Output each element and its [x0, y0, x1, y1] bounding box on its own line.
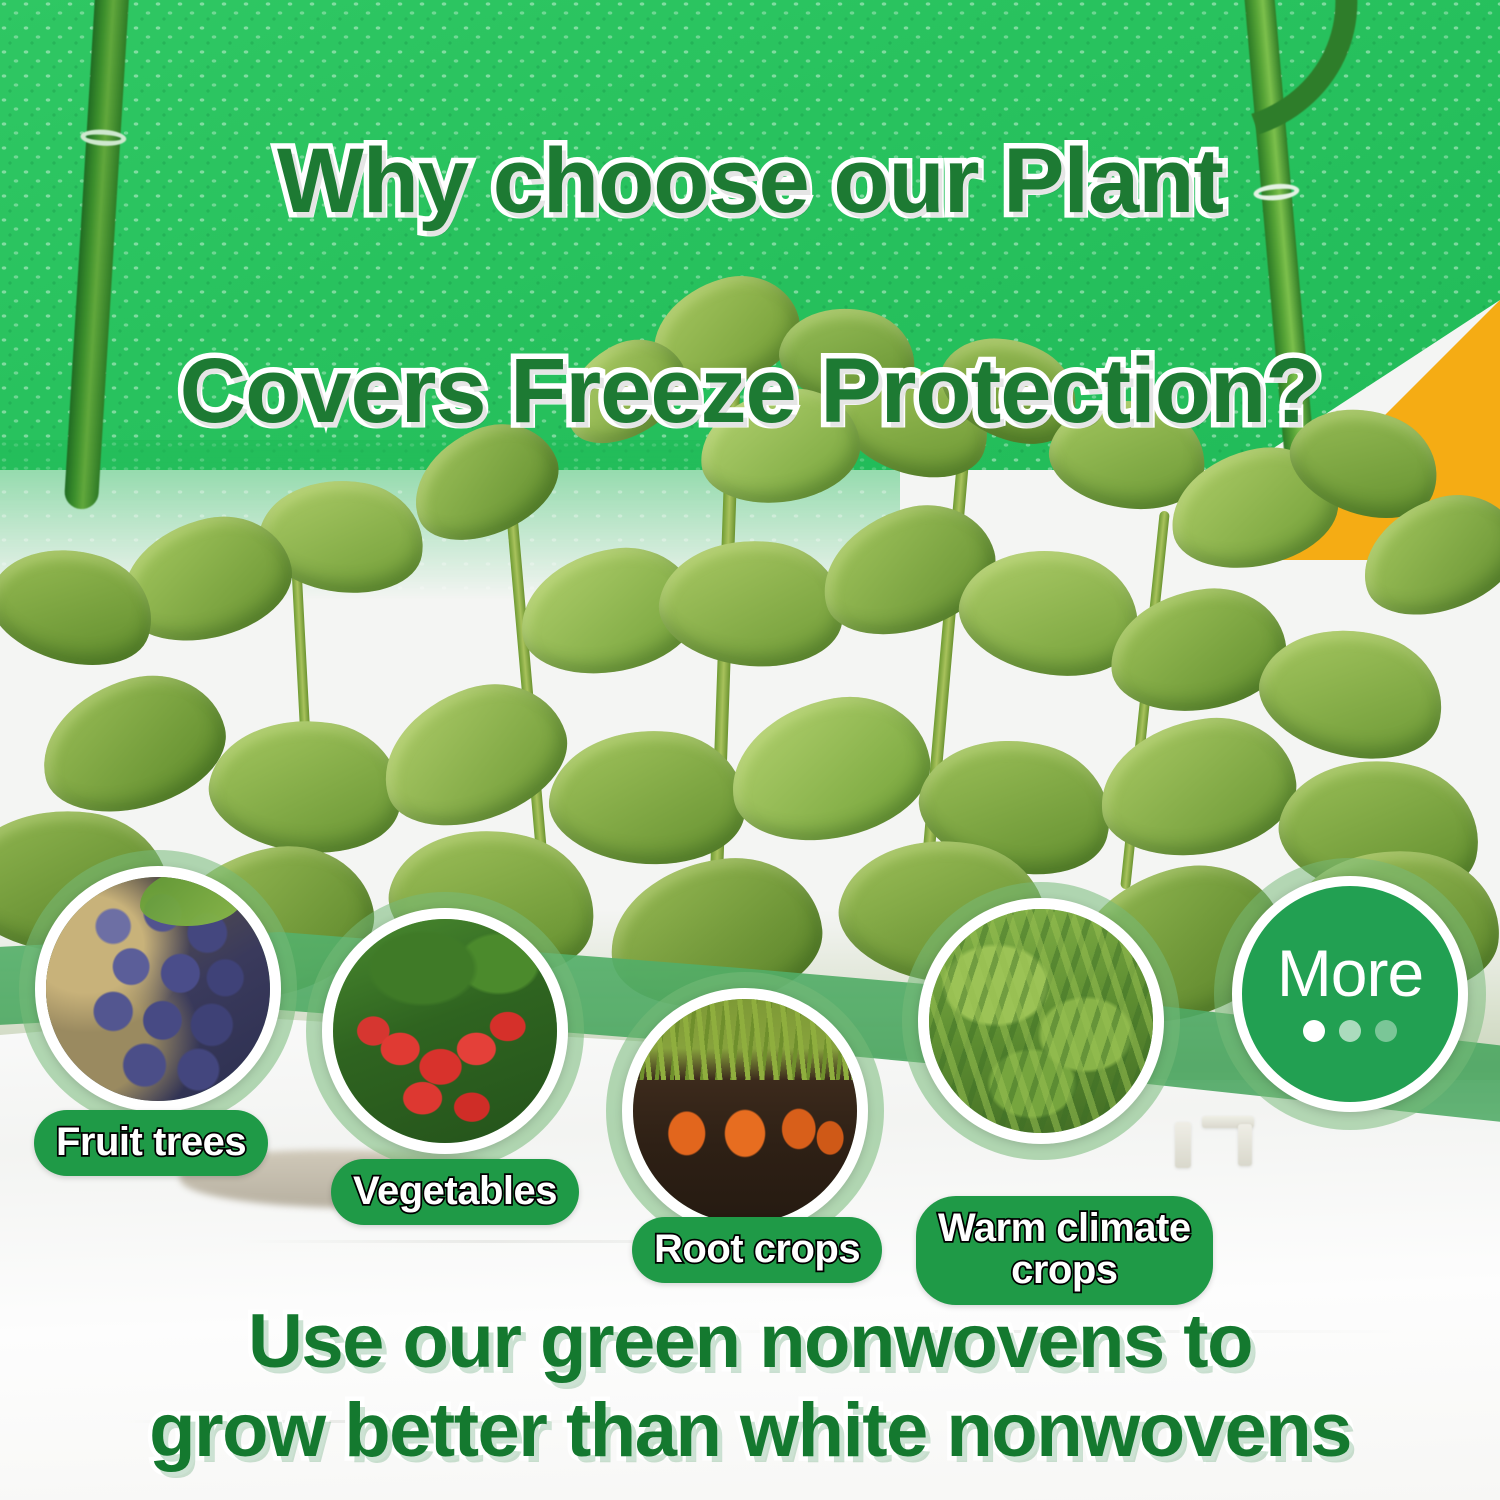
page-title: Why choose our Plant Covers Freeze Prote… [0, 24, 1500, 548]
category-badge-fruit-trees[interactable] [35, 866, 281, 1112]
headline-line-1: Why choose our Plant [48, 129, 1452, 234]
headline-line-2: Covers Freeze Protection? [48, 339, 1452, 444]
ground-cover-pin [1238, 1124, 1252, 1166]
more-button[interactable]: More [1232, 876, 1468, 1112]
footer-line-1: Use our green nonwovens to [248, 1299, 1252, 1384]
product-infographic-poster: Fruit trees Vegetables Root crops Warm c… [0, 0, 1500, 1500]
badge-photo-ring [35, 866, 281, 1112]
badge-label-fruit-trees: Fruit trees [34, 1110, 268, 1176]
more-dots-icon [1303, 1020, 1397, 1042]
badge-photo-ring [622, 988, 868, 1234]
more-button-disc[interactable]: More [1232, 876, 1468, 1112]
footer-tagline: Use our green nonwovens to grow better t… [0, 1207, 1500, 1476]
footer-line-2: grow better than white nonwovens [149, 1388, 1351, 1473]
ground-cover-pin [1175, 1122, 1191, 1168]
more-button-label: More [1277, 940, 1423, 1006]
badge-photo-ring [322, 908, 568, 1154]
badge-photo-ring [918, 898, 1164, 1144]
grapes-photo-icon [46, 877, 270, 1101]
category-badge-vegetables[interactable] [322, 908, 568, 1154]
category-badge-root-crops[interactable] [622, 988, 868, 1234]
strawberries-photo-icon [333, 919, 557, 1143]
category-badge-warm-climate-crops[interactable] [918, 898, 1164, 1144]
carrots-photo-icon [633, 999, 857, 1223]
leafy-greens-photo-icon [929, 909, 1153, 1133]
